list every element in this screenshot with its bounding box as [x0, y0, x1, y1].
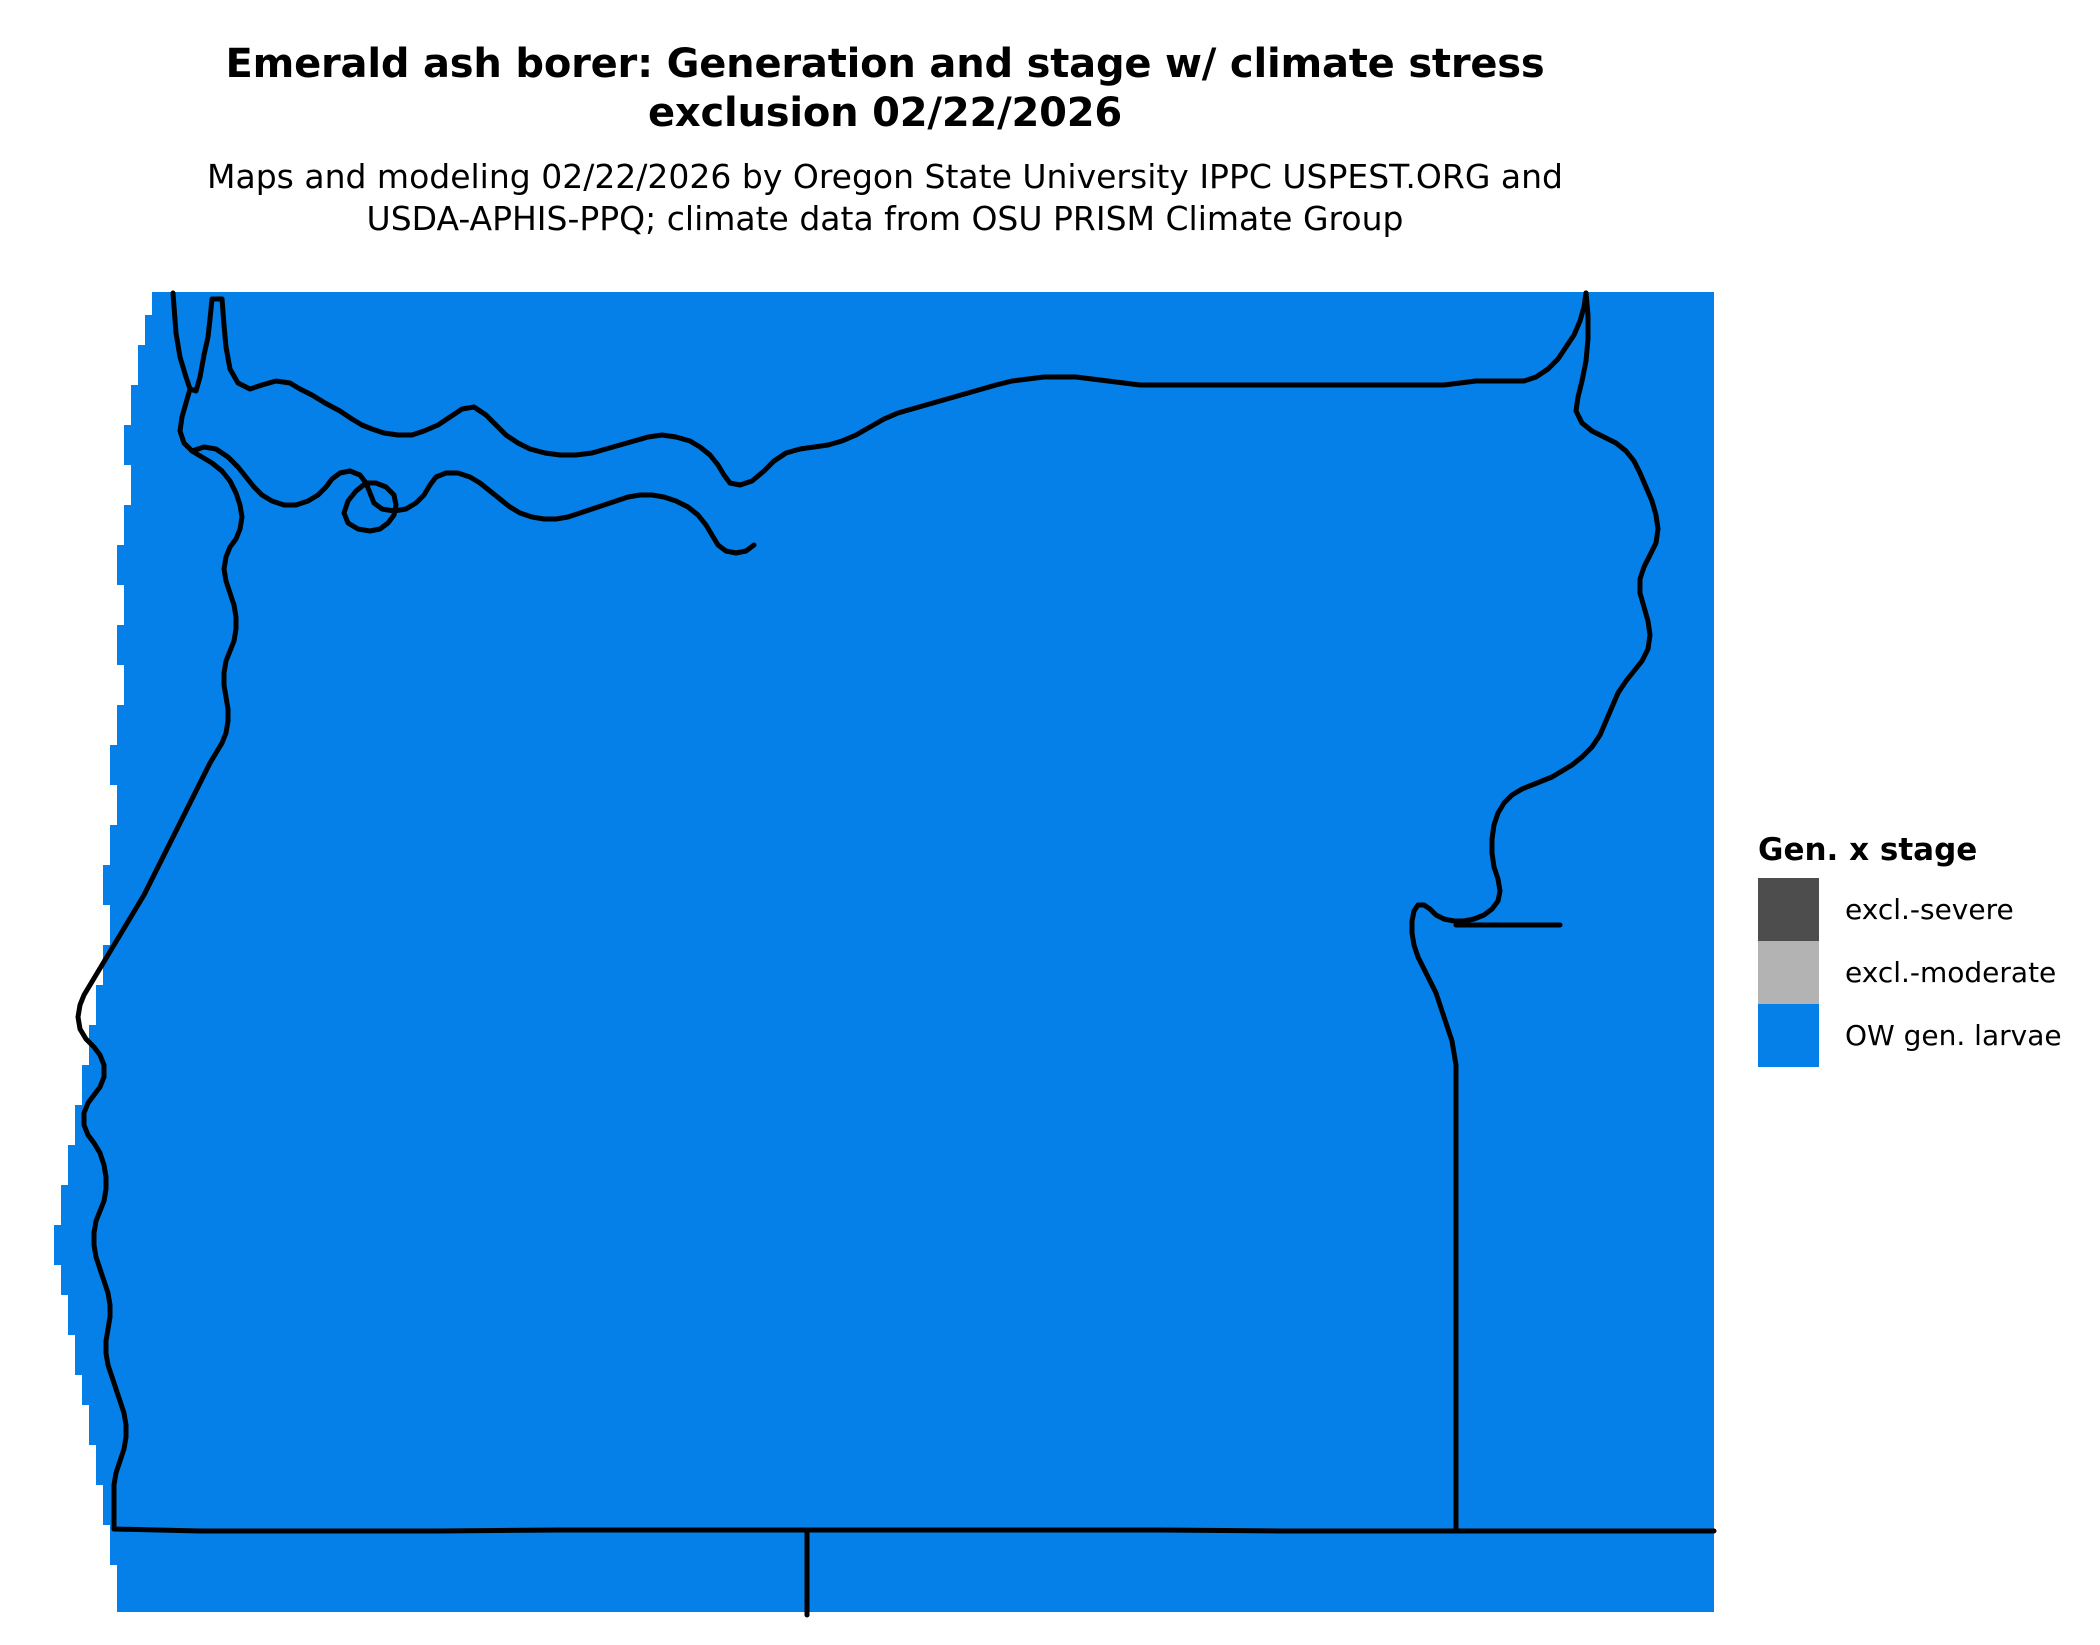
legend-swatch-excl-severe: [1758, 878, 1819, 941]
legend-item-excl-severe[interactable]: excl.-severe: [1758, 878, 2088, 941]
legend-label-excl-moderate: excl.-moderate: [1845, 956, 2056, 989]
map-page: Emerald ash borer: Generation and stage …: [0, 0, 2100, 1645]
legend-item-excl-moderate[interactable]: excl.-moderate: [1758, 941, 2088, 1004]
page-subtitle-line2: USDA-APHIS-PPQ; climate data from OSU PR…: [105, 198, 1665, 241]
legend-title: Gen. x stage: [1758, 832, 2088, 868]
legend-label-ow-gen-larvae: OW gen. larvae: [1845, 1019, 2062, 1052]
legend-item-ow-gen-larvae[interactable]: OW gen. larvae: [1758, 1004, 2088, 1067]
raster-layer: [54, 292, 1714, 1612]
title-block: Emerald ash borer: Generation and stage …: [0, 0, 1770, 241]
legend: Gen. x stage excl.-severe excl.-moderate…: [1758, 832, 2088, 1067]
boundary-oregon-south: [114, 1529, 1714, 1531]
raster-cell-ow-gen-larvae: [54, 292, 1714, 1612]
page-title-line1: Emerald ash borer: Generation and stage …: [105, 40, 1665, 89]
page-subtitle-line1: Maps and modeling 02/22/2026 by Oregon S…: [105, 156, 1665, 199]
legend-label-excl-severe: excl.-severe: [1845, 893, 2014, 926]
page-subtitle: Maps and modeling 02/22/2026 by Oregon S…: [105, 156, 1665, 242]
page-title-line2: exclusion 02/22/2026: [105, 89, 1665, 138]
page-title: Emerald ash borer: Generation and stage …: [105, 40, 1665, 138]
oregon-map-svg[interactable]: [0, 285, 1740, 1630]
map-canvas[interactable]: [0, 285, 1740, 1630]
legend-swatch-excl-moderate: [1758, 941, 1819, 1004]
legend-swatch-ow-gen-larvae: [1758, 1004, 1819, 1067]
